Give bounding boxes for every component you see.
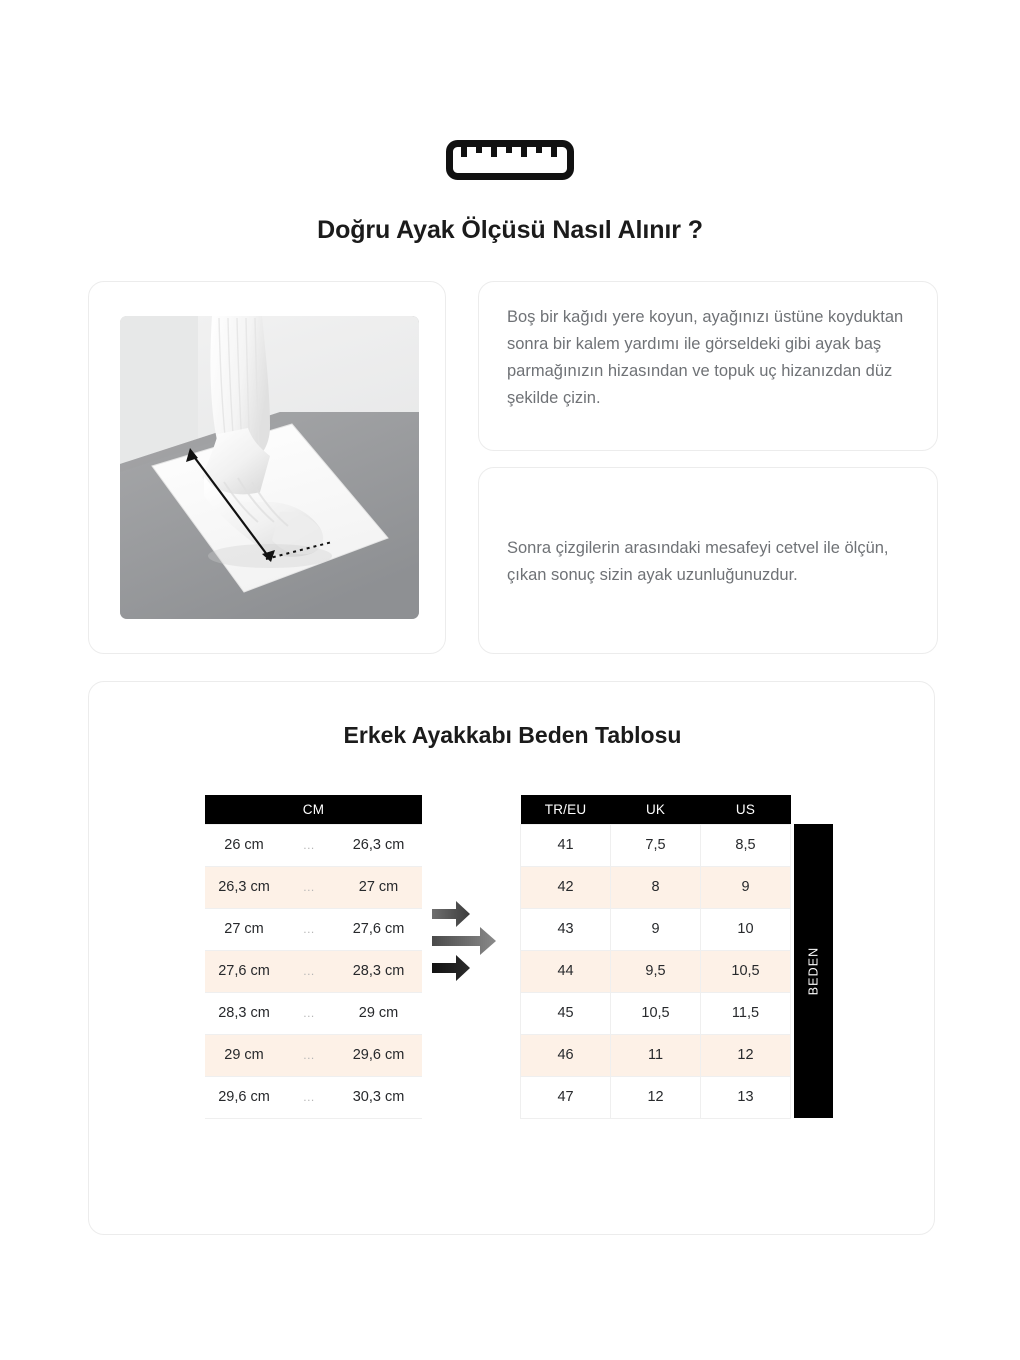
header-us: US: [701, 795, 791, 824]
size-tr-eu: 41: [521, 824, 611, 866]
cm-table-row: 27,6 cm...28,3 cm: [205, 950, 422, 992]
instruction-text-1: Boş bir kağıdı yere koyun, ayağınızı üst…: [507, 304, 913, 412]
size-table-row: 4510,511,5: [521, 992, 791, 1034]
instruction-photo-card: [88, 281, 446, 654]
size-us: 13: [701, 1076, 791, 1118]
header-tr-eu: TR/EU: [521, 795, 611, 824]
cm-table-body: 26 cm...26,3 cm26,3 cm...27 cm27 cm...27…: [205, 824, 422, 1118]
size-table-row: 461112: [521, 1034, 791, 1076]
size-uk: 9,5: [611, 950, 701, 992]
size-table-body: 417,58,5428943910449,510,54510,511,54611…: [521, 824, 791, 1118]
header-uk: UK: [611, 795, 701, 824]
cm-table-row: 26 cm...26,3 cm: [205, 824, 422, 866]
arrow-group-icon: [430, 895, 518, 987]
arrow-icon-3: [432, 955, 470, 981]
cm-range-separator: ...: [283, 908, 335, 950]
ruler-icon: [446, 140, 574, 180]
conversion-arrows: [430, 895, 518, 987]
size-us: 12: [701, 1034, 791, 1076]
size-uk: 8: [611, 866, 701, 908]
cm-range-separator: ...: [283, 824, 335, 866]
cm-range-separator: ...: [283, 992, 335, 1034]
arrow-icon-1: [432, 901, 470, 927]
size-us: 8,5: [701, 824, 791, 866]
cm-table-header-row: CM: [205, 795, 422, 824]
size-uk: 9: [611, 908, 701, 950]
cm-range-low: 29 cm: [205, 1034, 283, 1076]
cm-table-row: 26,3 cm...27 cm: [205, 866, 422, 908]
cm-table-row: 28,3 cm...29 cm: [205, 992, 422, 1034]
beden-label: BEDEN: [807, 947, 821, 996]
size-tr-eu: 42: [521, 866, 611, 908]
cm-column-header: CM: [205, 795, 422, 824]
size-table-row: 43910: [521, 908, 791, 950]
size-uk: 11: [611, 1034, 701, 1076]
cm-range-high: 29 cm: [335, 992, 422, 1034]
cm-range-separator: ...: [283, 866, 335, 908]
size-tr-eu: 47: [521, 1076, 611, 1118]
size-conversion-table: TR/EU UK US 417,58,5428943910449,510,545…: [520, 795, 791, 1119]
size-table-card: Erkek Ayakkabı Beden Tablosu CM 26 cm...…: [88, 681, 935, 1235]
cm-range-high: 30,3 cm: [335, 1076, 422, 1118]
size-us: 9: [701, 866, 791, 908]
size-tr-eu: 46: [521, 1034, 611, 1076]
size-us: 11,5: [701, 992, 791, 1034]
size-uk: 7,5: [611, 824, 701, 866]
foot-photo-illustration: [120, 316, 419, 619]
cm-table-row: 27 cm...27,6 cm: [205, 908, 422, 950]
size-table-title: Erkek Ayakkabı Beden Tablosu: [89, 722, 936, 749]
cm-range-separator: ...: [283, 1034, 335, 1076]
page-title: Doğru Ayak Ölçüsü Nasıl Alınır ?: [0, 216, 1020, 245]
cm-range-high: 29,6 cm: [335, 1034, 422, 1076]
cm-range-low: 26 cm: [205, 824, 283, 866]
cm-table: CM 26 cm...26,3 cm26,3 cm...27 cm27 cm..…: [205, 795, 422, 1119]
size-table-row: 4289: [521, 866, 791, 908]
size-uk: 12: [611, 1076, 701, 1118]
cm-range-low: 28,3 cm: [205, 992, 283, 1034]
size-us: 10: [701, 908, 791, 950]
beden-vertical-bar: BEDEN: [794, 824, 833, 1118]
cm-range-separator: ...: [283, 950, 335, 992]
arrow-icon-2: [432, 927, 496, 955]
cm-range-high: 27,6 cm: [335, 908, 422, 950]
instruction-card-2: Sonra çizgilerin arasındaki mesafeyi cet…: [478, 467, 938, 654]
cm-range-separator: ...: [283, 1076, 335, 1118]
cm-range-low: 27,6 cm: [205, 950, 283, 992]
cm-range-low: 27 cm: [205, 908, 283, 950]
size-guide-page: Doğru Ayak Ölçüsü Nasıl Alınır ?: [0, 0, 1020, 1360]
ruler-icon-container: [0, 140, 1020, 180]
foot-measurement-photo: [120, 316, 419, 619]
size-table-row: 417,58,5: [521, 824, 791, 866]
cm-range-low: 26,3 cm: [205, 866, 283, 908]
cm-range-high: 28,3 cm: [335, 950, 422, 992]
cm-range-high: 26,3 cm: [335, 824, 422, 866]
cm-range-low: 29,6 cm: [205, 1076, 283, 1118]
cm-table-row: 29,6 cm...30,3 cm: [205, 1076, 422, 1118]
size-table-header-row: TR/EU UK US: [521, 795, 791, 824]
size-tr-eu: 43: [521, 908, 611, 950]
size-us: 10,5: [701, 950, 791, 992]
size-uk: 10,5: [611, 992, 701, 1034]
size-tr-eu: 44: [521, 950, 611, 992]
cm-table-row: 29 cm...29,6 cm: [205, 1034, 422, 1076]
size-tr-eu: 45: [521, 992, 611, 1034]
instruction-text-2: Sonra çizgilerin arasındaki mesafeyi cet…: [507, 535, 913, 589]
instruction-card-1: Boş bir kağıdı yere koyun, ayağınızı üst…: [478, 281, 938, 451]
size-table-row: 471213: [521, 1076, 791, 1118]
cm-range-high: 27 cm: [335, 866, 422, 908]
size-table-row: 449,510,5: [521, 950, 791, 992]
